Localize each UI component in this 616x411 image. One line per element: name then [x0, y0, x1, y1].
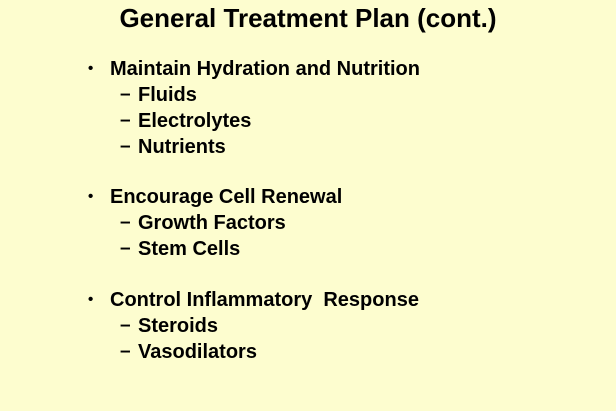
bullet-dot-icon: •	[88, 184, 110, 210]
bullet-item-encourage-cell-renewal: • Encourage Cell Renewal	[88, 184, 588, 210]
en-dash-icon: –	[120, 313, 138, 339]
sub-bullet-item-vasodilators: – Vasodilators	[88, 339, 588, 365]
bullet-label: Maintain Hydration and Nutrition	[110, 56, 420, 82]
en-dash-icon: –	[120, 108, 138, 134]
slide-canvas: General Treatment Plan (cont.) • Maintai…	[0, 0, 616, 411]
en-dash-icon: –	[120, 134, 138, 160]
sub-bullet-label: Stem Cells	[138, 236, 240, 262]
bullet-item-control-inflammatory-response: • Control Inflammatory Response	[88, 287, 588, 313]
en-dash-icon: –	[120, 236, 138, 262]
bullet-group-2: • Encourage Cell Renewal – Growth Factor…	[88, 184, 588, 262]
sub-bullet-label: Vasodilators	[138, 339, 257, 365]
en-dash-icon: –	[120, 82, 138, 108]
sub-bullet-label: Nutrients	[138, 134, 226, 160]
bullet-label: Control Inflammatory Response	[110, 287, 419, 313]
slide-body: • Maintain Hydration and Nutrition – Flu…	[88, 56, 588, 365]
bullet-group-1: • Maintain Hydration and Nutrition – Flu…	[88, 56, 588, 160]
sub-bullet-label: Growth Factors	[138, 210, 286, 236]
sub-bullet-label: Electrolytes	[138, 108, 251, 134]
sub-bullet-item-stem-cells: – Stem Cells	[88, 236, 588, 262]
sub-bullet-label: Steroids	[138, 313, 218, 339]
bullet-item-maintain-hydration-and-nutrition: • Maintain Hydration and Nutrition	[88, 56, 588, 82]
page-title: General Treatment Plan (cont.)	[0, 3, 616, 34]
sub-bullet-item-electrolytes: – Electrolytes	[88, 108, 588, 134]
sub-bullet-item-nutrients: – Nutrients	[88, 134, 588, 160]
en-dash-icon: –	[120, 339, 138, 365]
sub-bullet-item-growth-factors: – Growth Factors	[88, 210, 588, 236]
en-dash-icon: –	[120, 210, 138, 236]
sub-bullet-label: Fluids	[138, 82, 197, 108]
bullet-label: Encourage Cell Renewal	[110, 184, 342, 210]
sub-bullet-item-steroids: – Steroids	[88, 313, 588, 339]
sub-bullet-item-fluids: – Fluids	[88, 82, 588, 108]
bullet-dot-icon: •	[88, 287, 110, 313]
bullet-dot-icon: •	[88, 56, 110, 82]
bullet-group-3: • Control Inflammatory Response – Steroi…	[88, 287, 588, 365]
